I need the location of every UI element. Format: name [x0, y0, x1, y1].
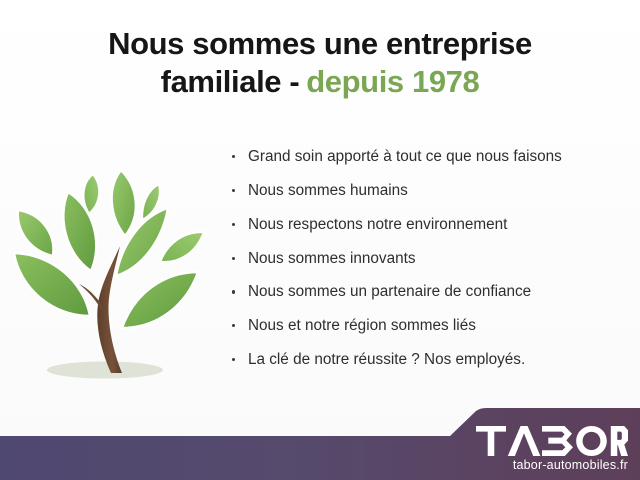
bullet-dot-icon: [232, 189, 235, 192]
list-item: Grand soin apporté à tout ce que nous fa…: [230, 148, 630, 166]
list-item: Nous sommes humains: [230, 182, 630, 200]
footer-shape: [0, 408, 640, 480]
list-item: Nous et notre région sommes liés: [230, 317, 630, 335]
leaf-lower-right: [122, 272, 198, 328]
leaf-group: [14, 170, 204, 328]
list-item: Nous respectons notre environnement: [230, 216, 630, 234]
list-item-label: Nous sommes un partenaire de confiance: [248, 283, 531, 300]
list-item-label: La clé de notre réussite ? Nos employés.: [248, 351, 525, 368]
leaf-top-center: [112, 170, 136, 236]
bullet-dot-icon: [232, 358, 235, 361]
bullet-dot-icon: [232, 223, 235, 226]
bullet-dot-icon: [232, 290, 235, 293]
bullet-dot-icon: [232, 257, 235, 260]
tree-shadow: [47, 362, 163, 379]
page-title: Nous sommes une entreprise familiale -de…: [0, 26, 640, 100]
footer-band: tabor-automobiles.fr: [0, 398, 640, 480]
list-item-label: Nous et notre région sommes liés: [248, 317, 476, 334]
leaf-mid-right-small: [160, 232, 204, 262]
title-accent-year: depuis 1978: [306, 64, 479, 99]
list-item-label: Nous sommes innovants: [248, 250, 416, 267]
benefits-list: Grand soin apporté à tout ce que nous fa…: [230, 148, 630, 385]
tree-illustration: [8, 148, 208, 393]
list-item-label: Nous sommes humains: [248, 182, 408, 199]
title-line-2: familiale -depuis 1978: [0, 64, 640, 100]
list-item: La clé de notre réussite ? Nos employés.: [230, 351, 630, 369]
title-line-1: Nous sommes une entreprise: [0, 26, 640, 62]
slide-canvas: Nous sommes une entreprise familiale -de…: [0, 0, 640, 480]
title-line-2-main: familiale -: [161, 64, 300, 99]
bullet-dot-icon: [232, 324, 235, 327]
bullet-dot-icon: [232, 155, 235, 158]
list-item-label: Grand soin apporté à tout ce que nous fa…: [248, 148, 562, 165]
leaf-lower-left: [14, 253, 90, 316]
list-item: Nous sommes un partenaire de confiance: [230, 283, 630, 301]
leaf-mid-left-small: [18, 210, 54, 256]
list-item: Nous sommes innovants: [230, 250, 630, 268]
list-item-label: Nous respectons notre environnement: [248, 216, 507, 233]
